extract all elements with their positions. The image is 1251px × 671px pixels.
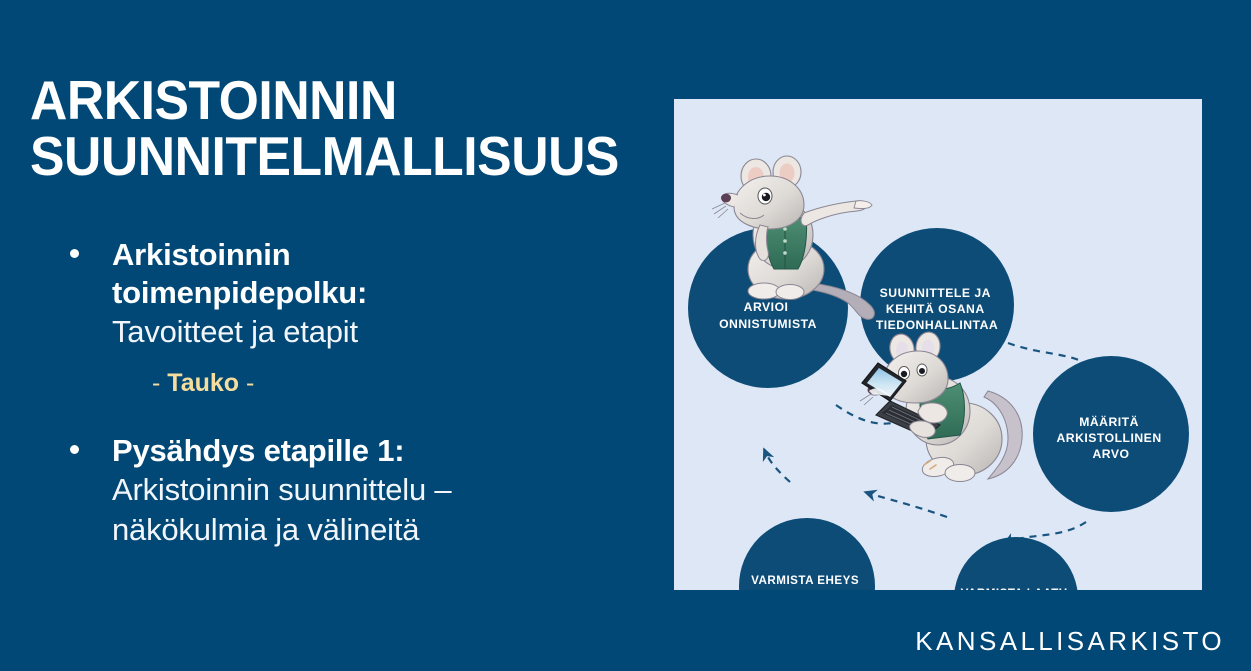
node-maarita-line-2: ARKISTOLLINEN — [1056, 431, 1161, 445]
page-title: ARKISTOINNIN SUUNNITELMALLISUUS — [30, 72, 613, 184]
bullet-dot-icon — [70, 445, 79, 454]
bullet-1-sub: Tavoitteet ja etapit — [112, 312, 662, 352]
node-arvioi-line-1: ARVIOI — [744, 300, 789, 314]
node-laatu-line-1: VARMISTA LAATU — [961, 587, 1068, 590]
pause-dash-right: - — [246, 369, 254, 397]
spacer — [62, 398, 662, 432]
cycle-diagram-panel: SUUNNITTELE JA KEHITÄ OSANA TIEDONHALLIN… — [674, 99, 1202, 590]
bullet-1-lead-line-1: Arkistoinnin — [112, 236, 662, 274]
page-title-line-1: ARKISTOINNIN — [30, 72, 613, 128]
kansallisarkisto-logo: KANSALLISARKISTO — [915, 626, 1225, 657]
bullet-2-lead: Pysähdys etapille 1: — [112, 432, 662, 470]
bullet-1-lead-line-2: toimenpidepolku: — [112, 274, 662, 312]
node-maarita-line-1: MÄÄRITÄ — [1079, 414, 1139, 429]
slide-root: ARKISTOINNIN SUUNNITELMALLISUUS Arkistoi… — [0, 0, 1251, 671]
list-item: Arkistoinnin toimenpidepolku: Tavoitteet… — [62, 236, 662, 352]
node-suunnittele-line-2: KEHITÄ OSANA — [886, 301, 984, 316]
pause-note: - Tauko - — [152, 368, 662, 398]
node-maarita-line-3: ARVO — [1093, 447, 1130, 461]
bullet-list: Arkistoinnin toimenpidepolku: Tavoitteet… — [62, 236, 662, 550]
bullet-2-sub-line-1: Arkistoinnin suunnittelu – — [112, 470, 662, 510]
arrow-laatu-to-eheys — [865, 492, 947, 517]
arrow-eheys-to-arvioi — [764, 449, 790, 482]
pause-word: Tauko — [167, 369, 239, 397]
list-item: Pysähdys etapille 1: Arkistoinnin suunni… — [62, 432, 662, 550]
node-laatu-label: VARMISTA LAATU JA KÄYTETTÄVYYS — [957, 587, 1075, 590]
node-laatu-circle — [954, 537, 1078, 590]
bullet-2-sub-line-2: näkökulmia ja välineitä — [112, 510, 662, 550]
page-title-line-2: SUUNNITELMALLISUUS — [30, 128, 613, 184]
node-suunnittele-line-3: TIEDONHALLINTAA — [876, 318, 998, 332]
node-arvioi-line-2: ONNISTUMISTA — [719, 317, 817, 331]
node-suunnittele-line-1: SUUNNITTELE JA — [880, 286, 991, 300]
pause-dash-left: - — [152, 369, 160, 397]
node-suunnittele-label: SUUNNITTELE JA KEHITÄ OSANA TIEDONHALLIN… — [876, 286, 998, 332]
node-eheys-line-1: VARMISTA EHEYS — [751, 574, 859, 587]
bullet-dot-icon — [70, 249, 79, 258]
